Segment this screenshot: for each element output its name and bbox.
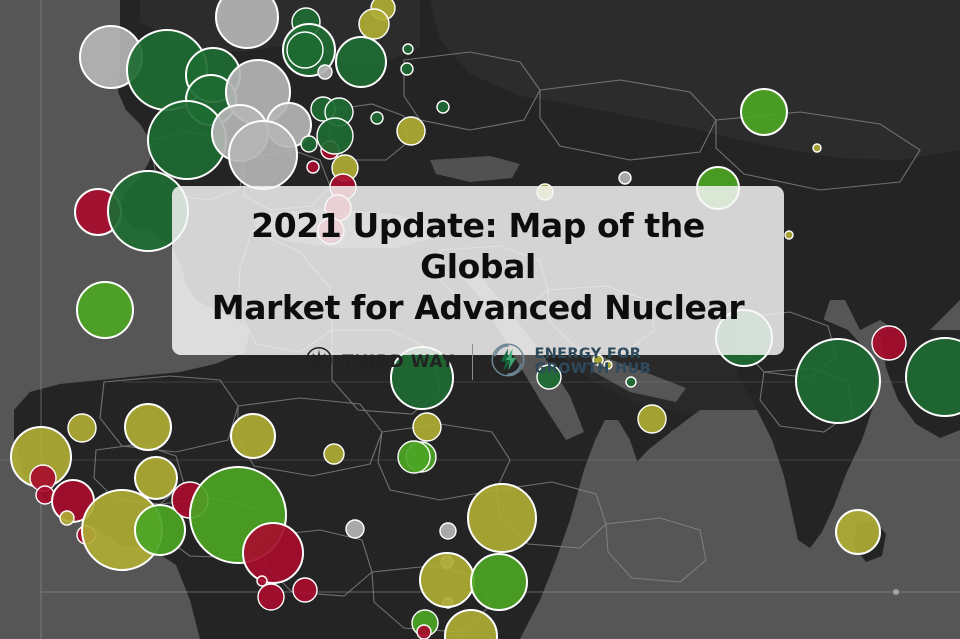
map-bubble[interactable]	[125, 404, 171, 450]
map-bubble[interactable]	[471, 554, 527, 610]
map-bubble[interactable]	[398, 441, 430, 473]
map-bubble[interactable]	[301, 136, 317, 152]
map-bubble[interactable]	[77, 282, 133, 338]
map-bubble[interactable]	[403, 44, 413, 54]
map-bubble[interactable]	[216, 0, 278, 48]
bubble-map-screenshot: 2021 Update: Map of the Global Market fo…	[0, 0, 960, 639]
map-bubble[interactable]	[293, 578, 317, 602]
third-way-logo[interactable]: THIRD WAY	[305, 346, 455, 379]
map-bubble[interactable]	[317, 118, 353, 154]
title-line-1: 2021 Update: Map of the Global	[251, 206, 705, 286]
efgh-line-2: GROWTH HUB	[535, 362, 651, 377]
energy-for-growth-hub-logo[interactable]: ENERGY FOR GROWTH HUB	[490, 342, 651, 383]
map-bubble[interactable]	[872, 326, 906, 360]
map-bubble[interactable]	[417, 625, 431, 639]
title-card: 2021 Update: Map of the Global Market fo…	[172, 186, 784, 355]
compass-star-icon	[305, 346, 333, 379]
efgh-line-1: ENERGY FOR	[535, 347, 651, 362]
map-bubble[interactable]	[638, 405, 666, 433]
map-bubble[interactable]	[243, 523, 303, 583]
map-bubble[interactable]	[371, 112, 383, 124]
map-bubble[interactable]	[741, 89, 787, 135]
map-bubble[interactable]	[346, 520, 364, 538]
page-title: 2021 Update: Map of the Global Market fo…	[198, 206, 758, 329]
map-bubble[interactable]	[420, 553, 474, 607]
title-line-2: Market for Advanced Nuclear	[212, 288, 744, 327]
map-bubble[interactable]	[68, 414, 96, 442]
map-bubble[interactable]	[336, 37, 386, 87]
map-bubble[interactable]	[413, 413, 441, 441]
map-bubble[interactable]	[906, 338, 960, 416]
map-bubble[interactable]	[258, 584, 284, 610]
map-bubble[interactable]	[318, 65, 332, 79]
map-bubble[interactable]	[135, 457, 177, 499]
map-bubble[interactable]	[231, 414, 275, 458]
efgh-wordmark: ENERGY FOR GROWTH HUB	[535, 347, 651, 377]
map-bubble[interactable]	[813, 144, 821, 152]
logo-row: THIRD WAY ENERGY FOR GROWTH HUB	[172, 342, 784, 383]
logo-divider	[472, 344, 473, 380]
map-bubble[interactable]	[397, 117, 425, 145]
map-bubble[interactable]	[60, 511, 74, 525]
map-bubble[interactable]	[836, 510, 880, 554]
map-bubble[interactable]	[307, 161, 319, 173]
map-bubble[interactable]	[785, 231, 793, 239]
third-way-wordmark: THIRD WAY	[342, 352, 455, 372]
map-bubble[interactable]	[437, 101, 449, 113]
map-bubble[interactable]	[445, 610, 497, 639]
map-bubble[interactable]	[359, 9, 389, 39]
map-bubble[interactable]	[229, 121, 297, 189]
energy-bolt-circle-icon	[490, 342, 526, 383]
map-bubble[interactable]	[401, 63, 413, 75]
map-bubble[interactable]	[287, 32, 323, 68]
map-bubble[interactable]	[619, 172, 631, 184]
map-bubble[interactable]	[468, 484, 536, 552]
map-bubble[interactable]	[440, 523, 456, 539]
map-bubble[interactable]	[324, 444, 344, 464]
map-bubble[interactable]	[796, 339, 880, 423]
